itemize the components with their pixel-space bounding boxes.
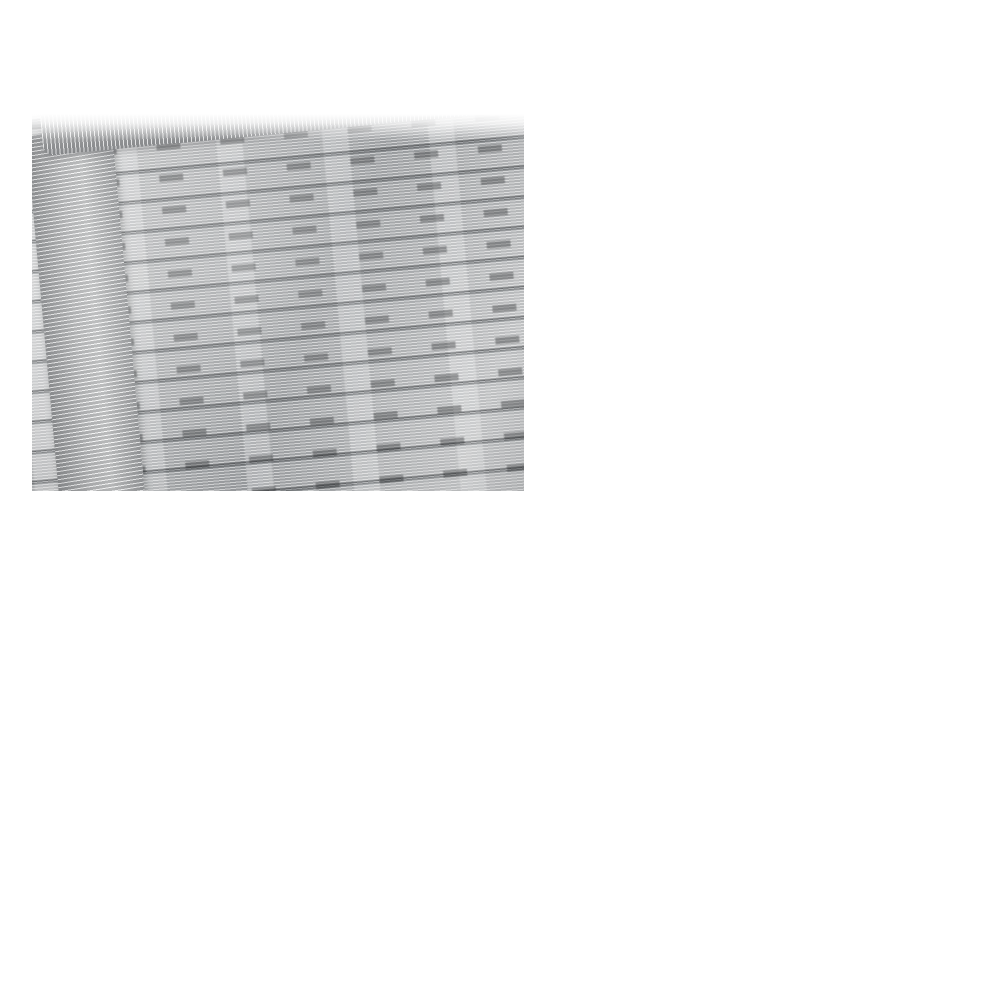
quadrant-chair-image — [560, 500, 1000, 1000]
wicker-closeup-photo — [32, 114, 524, 491]
quadrant-wicker-copy: Quality PE wicker UV-resistant and weath… — [540, 0, 1000, 500]
quadrant-design-copy: Elegant curvaceous design Luxurious comf… — [0, 500, 560, 1000]
feature-panel-canvas: Quality PE wicker UV-resistant and weath… — [0, 0, 1000, 1000]
quadrant-wicker-image — [0, 0, 540, 500]
